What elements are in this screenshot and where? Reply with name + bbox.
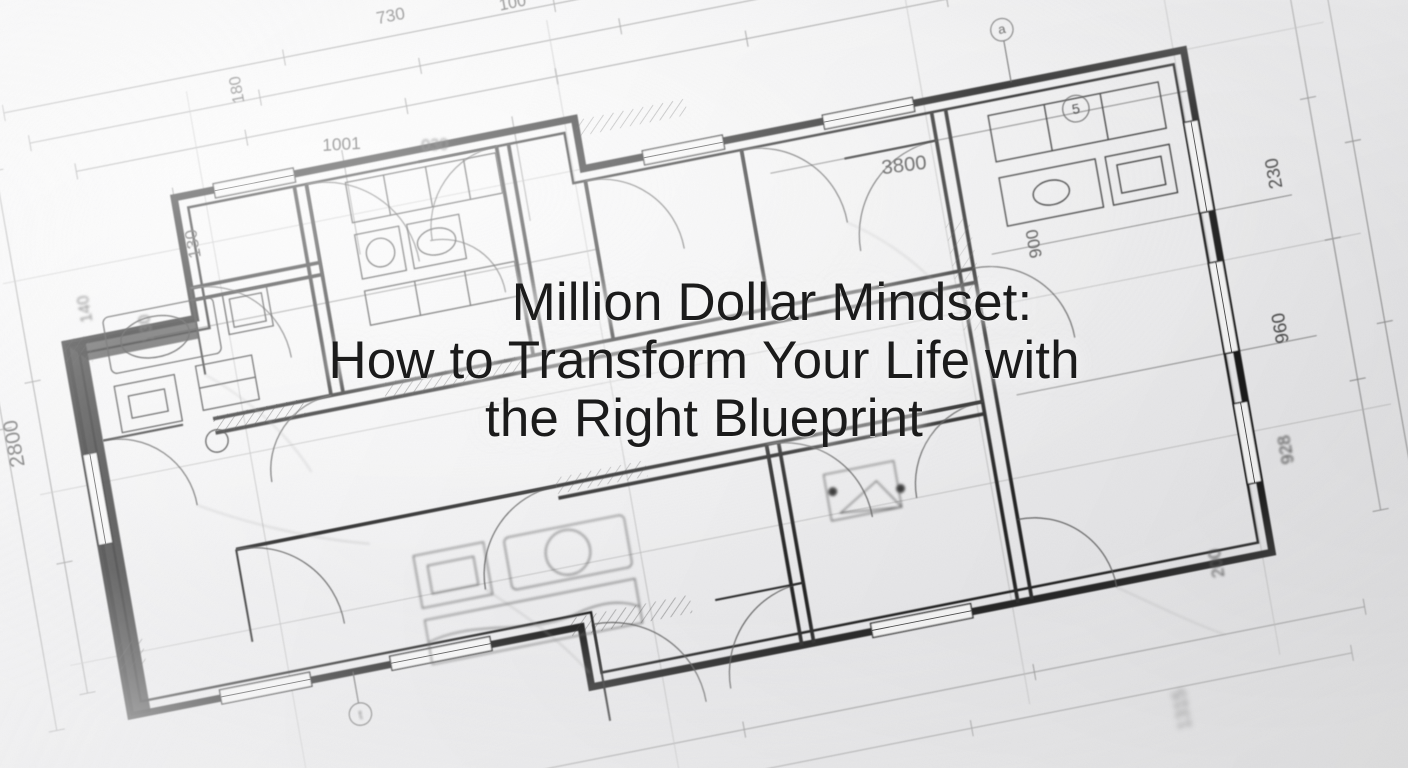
fixture-mark-t: t [357, 707, 364, 723]
dimension-label-1315: 1315 [1168, 687, 1196, 731]
dimension-label-2800: 2800 [0, 418, 30, 470]
floor-plan-drawing: a 5 t 2800 130 130 140 1001 [0, 0, 1408, 768]
dimension-label-140: 140 [74, 294, 96, 324]
dimension-label-730: 730 [375, 3, 407, 28]
dimension-label-130-a: 130 [180, 228, 205, 260]
dimension-label-1001: 1001 [322, 133, 361, 155]
dimension-label-130-b: 130 [135, 313, 157, 343]
dimension-label-200: 200 [1204, 547, 1229, 579]
dimension-label-030: 030 [421, 135, 449, 155]
dimension-label-320-a: 320 [629, 0, 661, 1]
dimension-label-960: 960 [1267, 311, 1293, 345]
header-image: a 5 t 2800 130 130 140 1001 [0, 0, 1408, 768]
dimension-label-928: 928 [1273, 434, 1298, 466]
dimension-label-230: 230 [1260, 156, 1286, 190]
blueprint-photo: a 5 t 2800 130 130 140 1001 [0, 0, 1408, 768]
fixture-mark-5: 5 [1071, 101, 1082, 118]
dimension-label-3800: 3800 [880, 152, 927, 180]
dimension-label-180: 180 [226, 75, 248, 105]
floor-plan-svg: a 5 t 2800 130 130 140 1001 [0, 0, 1408, 768]
fixture-mark-a: a [997, 21, 1007, 37]
dimension-label-900: 900 [1021, 228, 1046, 260]
